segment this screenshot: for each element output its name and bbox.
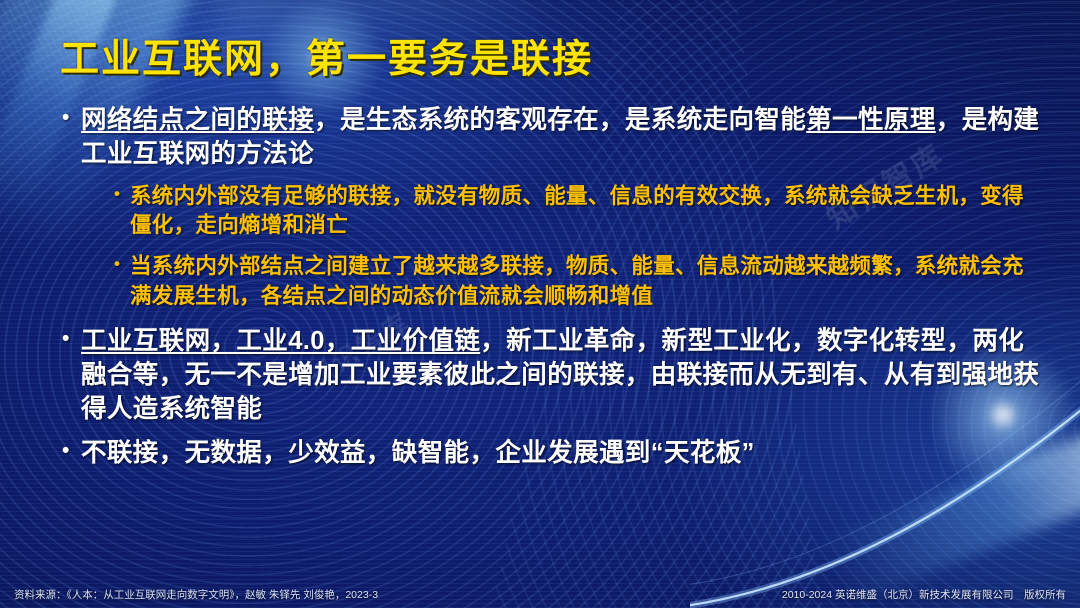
bullet-1-rest-a: ，是生态系统的客观存在，是系统走向智能 [314,106,806,134]
bullet-marker-icon: • [114,252,130,275]
bullet-marker-icon: • [62,325,81,353]
bullet-level1-1-text: 网络结点之间的联接，是生态系统的客观存在，是系统走向智能第一性原理，是构建工业互… [81,104,1042,172]
bullet-level2-2: • 当系统内外部结点之间建立了越来越多联接，物质、能量、信息流动越来越频繁，系统… [114,252,1042,310]
bullet-level1-1: • 网络结点之间的联接，是生态系统的客观存在，是系统走向智能第一性原理，是构建工… [62,104,1042,172]
slide-footer: 资料来源：《人本：从工业互联网走向数字文明》，赵敏 朱铎先 刘俊艳，2023-3… [0,580,1080,608]
bullet-marker-icon: • [114,182,130,205]
bullet-1-underline-b: 第一性原理 [806,106,936,134]
slide-canvas: 知识智库 知识智库 工业互联网，第一要务是联接 • 网络结点之间的联接，是生态系… [0,0,1080,608]
bullet-level2-2-text: 当系统内外部结点之间建立了越来越多联接，物质、能量、信息流动越来越频繁，系统就会… [130,252,1042,310]
bullet-level1-2: • 工业互联网，工业4.0，工业价值链，新工业革命，新型工业化，数字化转型，两化… [62,325,1042,427]
bullet-level1-3-text: 不联接，无数据，少效益，缺智能，企业发展遇到“天花板” [81,437,1042,471]
footer-source: 资料来源：《人本：从工业互联网走向数字文明》，赵敏 朱铎先 刘俊艳，2023-3 [14,587,378,602]
bullet-marker-icon: • [62,437,81,465]
bullet-list: • 网络结点之间的联接，是生态系统的客观存在，是系统走向智能第一性原理，是构建工… [62,104,1042,471]
bullet-level1-3: • 不联接，无数据，少效益，缺智能，企业发展遇到“天花板” [62,437,1042,471]
bullet-level2-1: • 系统内外部没有足够的联接，就没有物质、能量、信息的有效交换，系统就会缺乏生机… [114,182,1042,240]
bullet-marker-icon: • [62,104,81,132]
footer-copyright: 2010-2024 英诺维盛（北京）新技术发展有限公司 版权所有 [782,587,1066,602]
bullet-level2-1-text: 系统内外部没有足够的联接，就没有物质、能量、信息的有效交换，系统就会缺乏生机，变… [130,182,1042,240]
bullet-level1-2-text: 工业互联网，工业4.0，工业价值链，新工业革命，新型工业化，数字化转型，两化融合… [81,325,1042,427]
bullet-4-underline: 工业互联网，工业4.0，工业价值链 [81,327,480,355]
slide-title: 工业互联网，第一要务是联接 [60,28,593,84]
bullet-1-underline-a: 网络结点之间的联接 [81,106,314,134]
